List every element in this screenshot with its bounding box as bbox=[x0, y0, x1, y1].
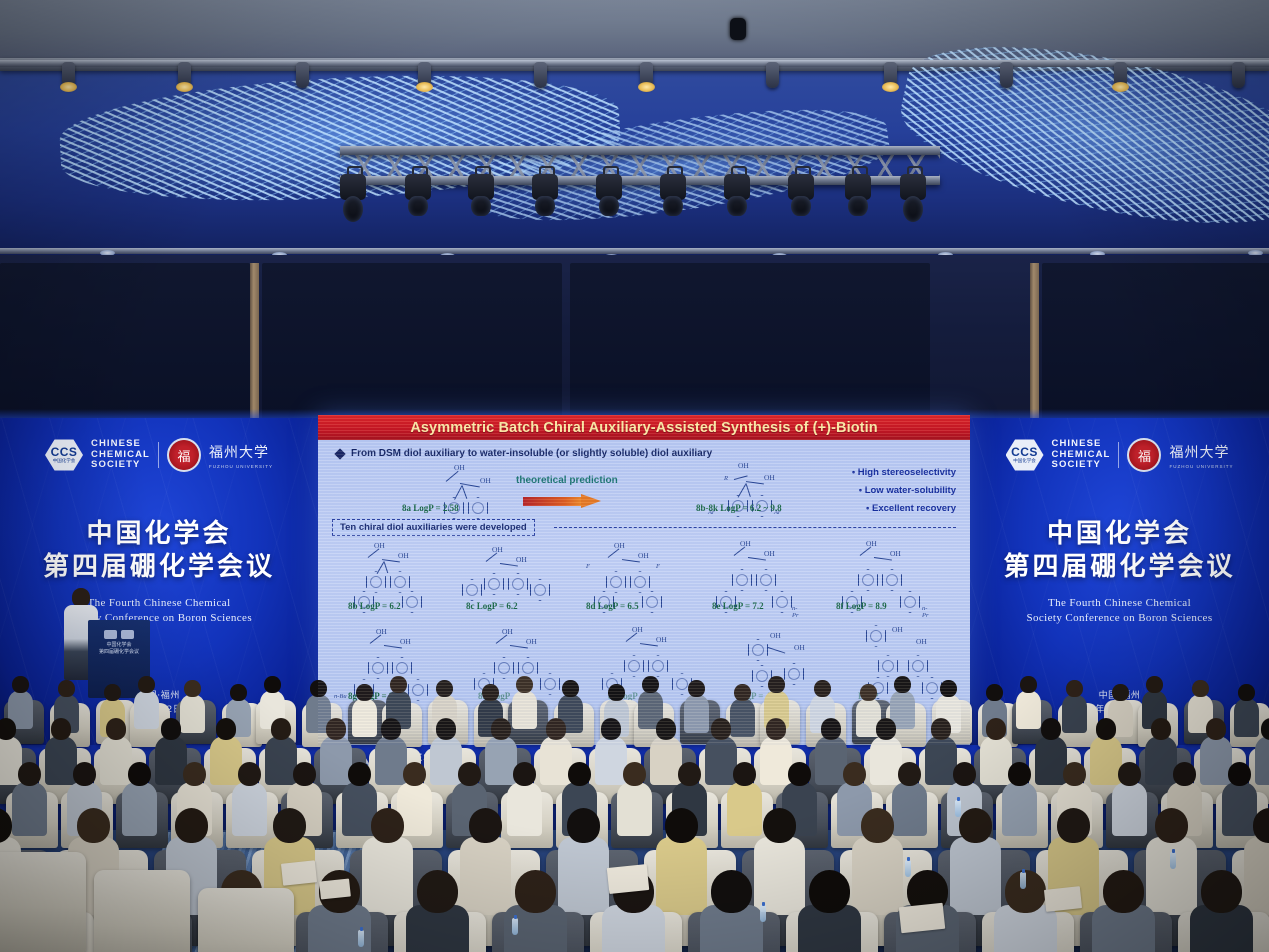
audience-head bbox=[371, 808, 404, 843]
ceiling-light-track-lower bbox=[0, 248, 1269, 254]
audience-member bbox=[1002, 762, 1037, 835]
audience-chair bbox=[0, 852, 86, 952]
audience-head bbox=[381, 718, 402, 740]
university-name-cn: 福州大学 bbox=[209, 442, 273, 462]
audience-head bbox=[390, 676, 406, 693]
podium-logo-ccs bbox=[104, 630, 117, 639]
audience-head bbox=[436, 680, 452, 697]
audience-body bbox=[122, 782, 157, 836]
audience-head bbox=[482, 684, 498, 701]
oh-label: OH bbox=[764, 473, 775, 482]
handout-paper bbox=[281, 860, 317, 885]
diamond-bullet-icon bbox=[334, 448, 345, 459]
water-bottle bbox=[512, 918, 518, 935]
university-name-block: 福州大学 FUZHOU UNIVERSITY bbox=[1169, 442, 1233, 469]
wall-panel bbox=[0, 263, 250, 423]
audience-head bbox=[12, 676, 28, 693]
audience-body bbox=[1002, 782, 1037, 836]
oh-label: OH bbox=[764, 549, 775, 558]
audience-head bbox=[1261, 718, 1269, 740]
audience-head bbox=[1192, 680, 1208, 697]
audience-head bbox=[894, 676, 910, 693]
audience-head bbox=[491, 718, 512, 740]
audience-head bbox=[161, 718, 182, 740]
audience-head bbox=[238, 762, 261, 786]
audience-head bbox=[623, 762, 646, 786]
audience-head bbox=[1238, 684, 1254, 701]
audience-head bbox=[1146, 676, 1162, 693]
oh-label: OH bbox=[516, 555, 527, 564]
audience-head bbox=[106, 718, 127, 740]
audience-head bbox=[356, 684, 372, 701]
audience-member bbox=[798, 870, 861, 952]
ceiling-camera bbox=[730, 18, 746, 40]
compound-label-8e: 8e LogP = 7.2 bbox=[712, 601, 764, 611]
society-name-en: CHINESE CHEMICAL SOCIETY bbox=[1052, 439, 1111, 471]
logo-divider bbox=[1118, 442, 1119, 468]
audience-head bbox=[567, 808, 600, 843]
audience-head bbox=[1096, 718, 1117, 740]
audience-head bbox=[821, 718, 842, 740]
audience-head bbox=[665, 808, 698, 843]
audience-head bbox=[1057, 808, 1090, 843]
compound-label-8f: 8f LogP = 8.9 bbox=[836, 601, 887, 611]
audience-head bbox=[1020, 676, 1036, 693]
water-bottle bbox=[358, 930, 364, 947]
audience-head bbox=[546, 718, 567, 740]
audience-member bbox=[122, 762, 157, 835]
oh-label: OH bbox=[480, 476, 491, 485]
audience-head bbox=[656, 718, 677, 740]
ceiling-slab bbox=[0, 0, 1269, 60]
audience-head bbox=[1041, 718, 1062, 740]
audience-body bbox=[1112, 782, 1147, 836]
audience-member bbox=[1112, 762, 1147, 835]
banner-title-en: The Fourth Chinese Chemical Society Conf… bbox=[970, 596, 1269, 625]
audience-body bbox=[232, 782, 267, 836]
highlight-box: Ten chiral diol auxiliaries were develop… bbox=[332, 519, 535, 536]
audience-body bbox=[507, 782, 542, 836]
water-bottle bbox=[760, 905, 766, 922]
audience-head bbox=[843, 762, 866, 786]
banner-title-en: The Fourth Chinese Chemical Society Conf… bbox=[0, 596, 318, 625]
audience-head bbox=[1155, 808, 1188, 843]
wall-panel bbox=[1042, 263, 1269, 423]
substituent-F-right: F bbox=[656, 563, 660, 570]
audience-head bbox=[184, 680, 200, 697]
audience-head bbox=[1118, 762, 1141, 786]
fuzhou-university-seal-icon: 福 bbox=[167, 438, 201, 472]
slide-title-bar: Asymmetric Batch Chiral Auxiliary-Assist… bbox=[318, 415, 970, 440]
audience-head bbox=[1201, 870, 1242, 913]
oh-label: OH bbox=[770, 631, 781, 640]
water-bottle bbox=[955, 800, 961, 817]
water-bottle bbox=[1170, 852, 1176, 869]
slide-bullet-text: From DSM diol auxiliary to water-insolub… bbox=[351, 448, 712, 459]
fuzhou-university-seal-icon: 福 bbox=[1127, 438, 1161, 472]
feature-item-0: • High stereoselectivity bbox=[852, 467, 956, 478]
audience-head bbox=[568, 762, 591, 786]
audience-head bbox=[898, 762, 921, 786]
feature-item-1: • Low water-solubility bbox=[859, 485, 956, 496]
compound-label-8c: 8c LogP = 6.2 bbox=[466, 601, 518, 611]
compound-label-8d: 8d LogP = 6.5 bbox=[586, 601, 639, 611]
handout-paper bbox=[319, 878, 351, 899]
back-wall bbox=[0, 255, 1269, 425]
audience-head bbox=[271, 718, 292, 740]
theoretical-prediction-label: theoretical prediction bbox=[516, 475, 618, 486]
audience-head bbox=[734, 684, 750, 701]
audience-head bbox=[1112, 684, 1128, 701]
oh-label: OH bbox=[890, 549, 901, 558]
audience-head bbox=[264, 676, 280, 693]
audience-head bbox=[861, 808, 894, 843]
ceiling-spotlight bbox=[1232, 62, 1245, 88]
audience-head bbox=[293, 762, 316, 786]
audience-chair bbox=[94, 870, 190, 952]
audience-head bbox=[104, 684, 120, 701]
audience-head bbox=[0, 718, 16, 740]
audience-head bbox=[814, 680, 830, 697]
audience-head bbox=[608, 684, 624, 701]
water-bottle bbox=[905, 860, 911, 877]
audience-member bbox=[352, 684, 377, 736]
feature-item-2: • Excellent recovery bbox=[866, 503, 956, 514]
society-name-en: CHINESE CHEMICAL SOCIETY bbox=[91, 439, 150, 471]
ccs-abbr-cn: 中国化学会 bbox=[53, 459, 76, 464]
audience-head bbox=[458, 762, 481, 786]
university-name-en: FUZHOU UNIVERSITY bbox=[209, 464, 273, 469]
oh-label: OH bbox=[656, 635, 667, 644]
oh-label: OH bbox=[794, 643, 805, 652]
oh-label: OH bbox=[638, 551, 649, 560]
audience-head bbox=[562, 680, 578, 697]
audience-head bbox=[766, 718, 787, 740]
dashed-separator bbox=[554, 527, 956, 528]
substituent-F-left: F bbox=[586, 563, 590, 570]
audience-member bbox=[1190, 870, 1253, 952]
oh-label: OH bbox=[526, 637, 537, 646]
audience-head bbox=[876, 718, 897, 740]
banner-logo-row: CCS 中国化学会 CHINESE CHEMICAL SOCIETY 福 福州大… bbox=[0, 438, 318, 472]
audience-member bbox=[1092, 870, 1155, 952]
audience-head bbox=[73, 762, 96, 786]
ccs-logo-icon: CCS 中国化学会 bbox=[1006, 439, 1044, 472]
oh-label: OH bbox=[398, 551, 409, 560]
podium-logos bbox=[98, 630, 140, 639]
audience-head bbox=[403, 762, 426, 786]
ceiling-spotlight bbox=[884, 62, 897, 88]
substituent-nBu: n-Bu bbox=[334, 693, 347, 700]
audience-head bbox=[711, 870, 752, 913]
oh-label: OH bbox=[400, 637, 411, 646]
water-bottle bbox=[1020, 872, 1026, 889]
audience-head bbox=[940, 680, 956, 697]
audience-head bbox=[216, 718, 237, 740]
audience-head bbox=[1228, 762, 1251, 786]
audience-head bbox=[436, 718, 457, 740]
university-name-en: FUZHOU UNIVERSITY bbox=[1169, 464, 1233, 469]
audience-member bbox=[507, 762, 542, 835]
audience-head bbox=[273, 808, 306, 843]
university-name-cn: 福州大学 bbox=[1169, 442, 1233, 462]
substituent-nPr: n-Pr bbox=[792, 605, 799, 619]
audience-head bbox=[809, 870, 850, 913]
audience-head bbox=[348, 762, 371, 786]
audience-chair bbox=[198, 888, 294, 952]
audience-head bbox=[1063, 762, 1086, 786]
ceiling-spotlight bbox=[178, 62, 191, 88]
audience-head bbox=[183, 762, 206, 786]
audience-head bbox=[1206, 718, 1227, 740]
audience-head bbox=[310, 680, 326, 697]
ccs-logo-icon: CCS 中国化学会 bbox=[45, 439, 83, 472]
audience-head bbox=[18, 762, 41, 786]
audience-member bbox=[700, 870, 763, 952]
audience-head bbox=[986, 718, 1007, 740]
ceiling-spotlight bbox=[1000, 62, 1013, 88]
audience-head bbox=[516, 676, 532, 693]
handout-paper bbox=[899, 903, 945, 933]
audience-body bbox=[617, 782, 652, 836]
audience-head bbox=[469, 808, 502, 843]
substituent-nPr: n-Pr bbox=[922, 605, 929, 619]
audience-head bbox=[230, 684, 246, 701]
wall-pilaster bbox=[1030, 263, 1039, 423]
ceiling-spotlight bbox=[296, 62, 309, 88]
audience-head bbox=[77, 808, 110, 843]
audience-head bbox=[1008, 762, 1031, 786]
oh-label: OH bbox=[916, 637, 927, 646]
audience-head bbox=[1151, 718, 1172, 740]
audience-head bbox=[1103, 870, 1144, 913]
logo-divider bbox=[158, 442, 159, 468]
audience-head bbox=[1066, 680, 1082, 697]
audience-member bbox=[504, 870, 567, 952]
banner-title-cn: 中国化学会 第四届硼化学会议 bbox=[0, 518, 318, 585]
truss-beam-top bbox=[340, 146, 940, 155]
university-name-block: 福州大学 FUZHOU UNIVERSITY bbox=[209, 442, 273, 469]
audience-head bbox=[138, 676, 154, 693]
handout-paper bbox=[1044, 886, 1082, 912]
wall-pilaster bbox=[250, 263, 259, 423]
banner-logo-row: CCS 中国化学会 CHINESE CHEMICAL SOCIETY 福 福州大… bbox=[970, 438, 1269, 472]
oh-label: OH bbox=[738, 461, 749, 470]
oh-label: OH bbox=[892, 625, 903, 634]
ceiling-spotlight bbox=[534, 62, 547, 88]
oh-label: OH bbox=[454, 463, 465, 472]
audience-head bbox=[601, 718, 622, 740]
audience-head bbox=[768, 676, 784, 693]
ceiling-spotlight bbox=[640, 62, 653, 88]
podium-text: 中国化学会 第四届硼化学会议 bbox=[96, 642, 142, 657]
compound-label-8b-8k: 8b-8k LogP = 6.2 ~ 9.8 bbox=[696, 503, 782, 513]
audience-body bbox=[352, 698, 377, 736]
audience-head bbox=[58, 680, 74, 697]
audience-head bbox=[711, 718, 732, 740]
wall-panel bbox=[570, 263, 930, 423]
audience-head bbox=[128, 762, 151, 786]
handout-paper bbox=[607, 864, 649, 894]
audience-head bbox=[763, 808, 796, 843]
compound-label-8b: 8b LogP = 6.2 bbox=[348, 601, 401, 611]
compound-label-8a: 8a LogP = 2.58 bbox=[402, 503, 459, 513]
audience-head bbox=[678, 762, 701, 786]
wall-panel bbox=[262, 263, 562, 423]
audience-head bbox=[788, 762, 811, 786]
audience-head bbox=[860, 684, 876, 701]
conference-hall-photo: CCS 中国化学会 CHINESE CHEMICAL SOCIETY 福 福州大… bbox=[0, 0, 1269, 952]
audience-head bbox=[417, 870, 458, 913]
audience-head bbox=[1173, 762, 1196, 786]
audience-head bbox=[175, 808, 208, 843]
audience-head bbox=[986, 684, 1002, 701]
ceiling-spotlight bbox=[62, 62, 75, 88]
slide-bullet-row: From DSM diol auxiliary to water-insolub… bbox=[336, 448, 712, 459]
audience-member bbox=[406, 870, 469, 952]
audience-head bbox=[733, 762, 756, 786]
audience-head bbox=[688, 680, 704, 697]
slide-title-text: Asymmetric Batch Chiral Auxiliary-Assist… bbox=[410, 420, 877, 436]
audience-head bbox=[513, 762, 536, 786]
substituent-R: R bbox=[724, 475, 728, 482]
audience-head bbox=[959, 808, 992, 843]
audience-head bbox=[515, 870, 556, 913]
audience-head bbox=[642, 676, 658, 693]
podium-logo-university bbox=[121, 630, 134, 639]
transformation-arrow-icon bbox=[523, 495, 601, 508]
banner-title-cn: 中国化学会 第四届硼化学会议 bbox=[970, 518, 1269, 585]
ceiling bbox=[0, 0, 1269, 270]
ceiling-spotlight bbox=[766, 62, 779, 88]
ceiling-spotlight bbox=[1114, 62, 1127, 88]
audience-member bbox=[617, 762, 652, 835]
audience-head bbox=[953, 762, 976, 786]
audience-head bbox=[51, 718, 72, 740]
audience-head bbox=[326, 718, 347, 740]
audience-head bbox=[931, 718, 952, 740]
ccs-abbr: CCS bbox=[51, 446, 78, 458]
ceiling-spotlight bbox=[418, 62, 431, 88]
audience-member bbox=[232, 762, 267, 835]
